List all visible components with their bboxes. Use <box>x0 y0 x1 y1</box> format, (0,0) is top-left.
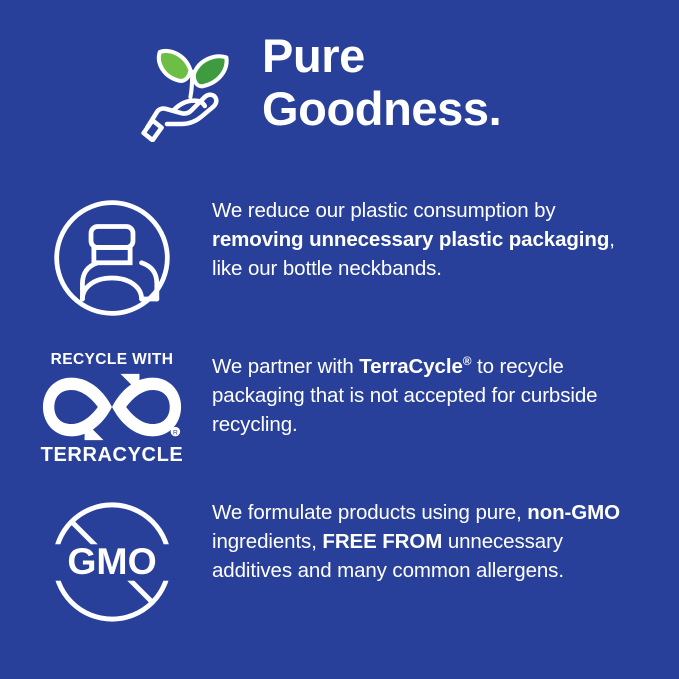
feature-row-terracycle: RECYCLE WITH R TERRAC <box>40 352 642 465</box>
terracycle-top-label: RECYCLE WITH <box>51 352 174 368</box>
header: Pure Goodness. <box>140 28 501 142</box>
text-segment-bold: FREE FROM <box>322 530 442 553</box>
text-segment-bold: non-GMO <box>527 501 620 524</box>
feature-text-plastic-reduction: We reduce our plastic consumption by rem… <box>184 196 642 283</box>
text-segment: We partner with <box>212 355 359 378</box>
infinity-recycle-arrows-icon: R <box>41 372 183 442</box>
feature-row-non-gmo: GMO We formulate products using pure, no… <box>40 498 642 626</box>
terracycle-bottom-label: TERRACYCLE <box>41 445 184 465</box>
text-segment: ingredients, <box>212 530 322 553</box>
hand-holding-sprout-icon <box>140 34 248 142</box>
feature-text-terracycle: We partner with TerraCycle® to recycle p… <box>184 352 642 439</box>
terracycle-logo: RECYCLE WITH R TERRAC <box>40 352 184 465</box>
text-segment-bold: removing unnecessary plastic packaging <box>212 228 609 251</box>
pure-goodness-poster: Pure Goodness. We reduce our plastic con… <box>0 0 679 679</box>
feature-row-plastic-reduction: We reduce our plastic consumption by rem… <box>40 196 642 320</box>
bottle-neckband-circle-icon <box>40 196 184 320</box>
gmo-label: GMO <box>67 540 156 582</box>
feature-text-non-gmo: We formulate products using pure, non-GM… <box>184 498 642 585</box>
text-segment-bold: TerraCycle <box>359 355 462 378</box>
text-segment: We reduce our plastic consumption by <box>212 199 556 222</box>
page-title: Pure Goodness. <box>262 28 501 135</box>
text-segment: We formulate products using pure, <box>212 501 527 524</box>
svg-text:R: R <box>173 429 178 436</box>
no-gmo-circle-icon: GMO <box>40 498 184 626</box>
